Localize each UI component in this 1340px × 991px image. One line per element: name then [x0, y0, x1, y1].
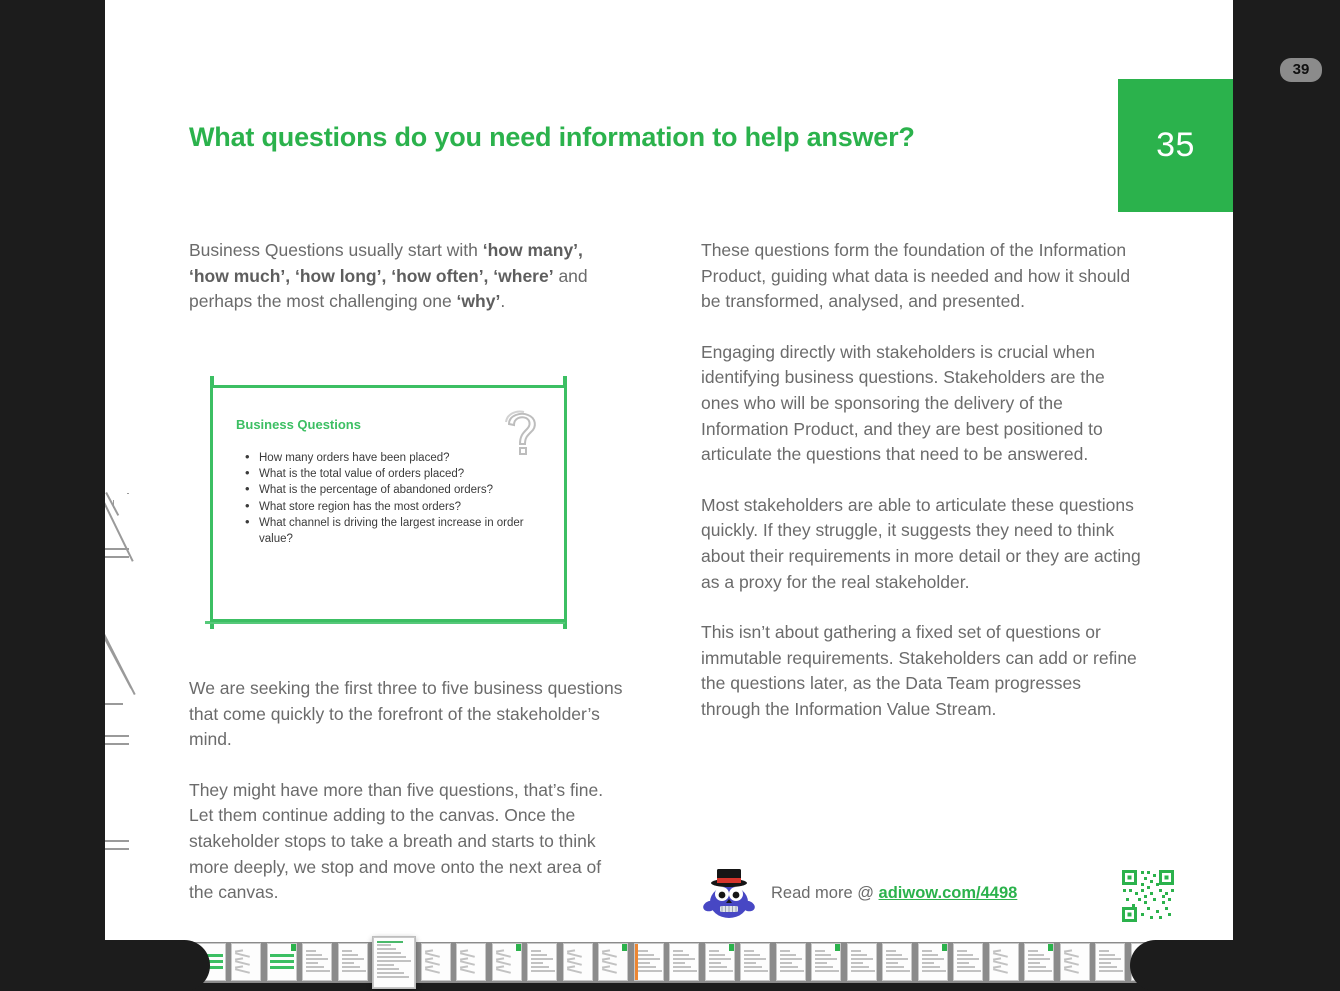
thumb-green-tag [942, 944, 947, 951]
thumb-line [851, 958, 873, 960]
thumb-line [638, 954, 654, 956]
presentation-viewer: 39 35 What questions do you need informa… [0, 0, 1340, 991]
thumb-line [886, 966, 904, 968]
thumbnail-31[interactable] [1095, 943, 1125, 981]
lp1-bold-b: ‘why’ [457, 291, 501, 311]
filmstrip-left-cap [0, 940, 210, 991]
thumbnail-25[interactable] [882, 943, 912, 981]
thumbnail-15[interactable] [527, 943, 557, 981]
thumb-line [744, 970, 768, 972]
thumbnail-21[interactable] [740, 943, 770, 981]
thumb-line [886, 970, 910, 972]
left-paragraph-3: They might have more than five questions… [189, 778, 624, 906]
thumb-line [306, 958, 328, 960]
thumb-line [922, 966, 940, 968]
thumb-line [306, 970, 330, 972]
filmstrip-right-cap [1130, 940, 1340, 991]
thumb-green-tag [729, 944, 734, 951]
list-item: How many orders have been placed? [243, 450, 543, 466]
page-indicator-badge: 39 [1280, 58, 1322, 82]
slide-number-badge: 35 [1118, 79, 1233, 212]
thumbnail-16[interactable] [563, 943, 593, 981]
page-title: What questions do you need information t… [189, 122, 915, 153]
thumb-line [815, 958, 837, 960]
thumb-line [780, 950, 790, 952]
thumb-line [886, 950, 896, 952]
thumbnail-9[interactable] [302, 943, 332, 981]
thumb-line [531, 954, 547, 956]
thumbnail-19[interactable] [669, 943, 699, 981]
left-column: Business Questions usually start with ‘h… [189, 238, 624, 315]
adiwow-link[interactable]: adiwow.com/4498 [879, 884, 1018, 902]
thumb-line [377, 968, 399, 970]
slide-number: 35 [1156, 126, 1195, 165]
thumb-line [377, 972, 404, 974]
thumb-line [306, 962, 318, 964]
thumb-line [377, 952, 401, 954]
thumb-line [602, 968, 617, 973]
thumbnail-12[interactable] [421, 943, 451, 981]
thumb-green-tag [835, 944, 840, 951]
thumb-title-line [377, 941, 403, 943]
thumb-band [270, 960, 294, 963]
slide-thumbnail-strip[interactable] [0, 940, 1340, 991]
thumb-line [744, 962, 756, 964]
owl-top-hat-icon [701, 866, 757, 922]
thumb-line [673, 962, 685, 964]
thumb-line [851, 950, 861, 952]
thumb-line [709, 958, 731, 960]
slide-footer: Read more @ adiwow.com/4498 [701, 866, 1143, 936]
left-column-lower: We are seeking the first three to five b… [189, 676, 624, 906]
list-item: What store region has the most orders? [243, 499, 543, 515]
thumbnail-13[interactable] [456, 943, 486, 981]
thumb-line [1099, 970, 1123, 972]
thumb-line [638, 966, 656, 968]
thumbnail-20[interactable] [705, 943, 735, 981]
figure-heading: Business Questions [236, 417, 361, 432]
right-column: These questions form the foundation of t… [701, 238, 1143, 723]
thumb-line [377, 944, 391, 946]
thumb-line [957, 958, 979, 960]
thumb-line [377, 948, 396, 950]
thumb-line [851, 962, 863, 964]
thumb-line [1028, 970, 1052, 972]
thumb-line [1099, 966, 1117, 968]
thumb-line [377, 976, 409, 978]
thumb-line [922, 958, 944, 960]
lp1a: Business Questions usually start with [189, 240, 483, 260]
right-paragraph-4: This isn’t about gathering a fixed set o… [701, 620, 1143, 722]
thumb-line [709, 954, 725, 956]
business-questions-figure: Business Questions How many orders have … [205, 376, 575, 636]
thumb-line [851, 966, 869, 968]
thumbnail-14[interactable] [492, 943, 522, 981]
thumb-line [1028, 954, 1044, 956]
thumb-line [709, 966, 727, 968]
thumb-line [851, 970, 875, 972]
thumb-line [744, 950, 754, 952]
figure-question-list: How many orders have been placed? What i… [243, 450, 543, 547]
thumb-line [780, 958, 802, 960]
thumb-line [709, 950, 719, 952]
thumb-line [1028, 962, 1040, 964]
thumb-line [306, 966, 324, 968]
thumbnail-10[interactable] [338, 943, 368, 981]
thumb-line [673, 958, 695, 960]
thumbnail-24[interactable] [847, 943, 877, 981]
thumb-green-tag [622, 944, 627, 951]
thumb-line [922, 970, 946, 972]
thumb-line [957, 962, 969, 964]
thumb-line [922, 962, 934, 964]
thumbnail-27[interactable] [953, 943, 983, 981]
thumb-line [709, 970, 733, 972]
thumbnail-22[interactable] [776, 943, 806, 981]
read-more-label: Read more @ [771, 884, 879, 902]
thumb-line [1028, 958, 1050, 960]
thumb-line [922, 950, 932, 952]
thumb-line [922, 954, 938, 956]
thumbnail-23[interactable] [811, 943, 841, 981]
thumb-green-tag [516, 944, 521, 951]
right-paragraph-1: These questions form the foundation of t… [701, 238, 1143, 315]
thumb-line [886, 962, 898, 964]
thumb-line [780, 970, 804, 972]
right-paragraph-3: Most stakeholders are able to articulate… [701, 493, 1143, 595]
thumb-line [342, 970, 366, 972]
thumbnail-30[interactable] [1060, 943, 1090, 981]
thumb-line [342, 950, 352, 952]
thumb-line [1064, 968, 1079, 973]
thumb-line [638, 962, 650, 964]
list-item: What channel is driving the largest incr… [243, 515, 543, 547]
thumb-line [496, 968, 511, 973]
thumb-line [567, 968, 582, 973]
thumbnail-7[interactable] [231, 943, 261, 981]
thumb-line [673, 966, 691, 968]
thumb-line [638, 958, 660, 960]
thumb-band [270, 966, 294, 969]
thumb-line [638, 950, 648, 952]
thumbnail-28[interactable] [989, 943, 1019, 981]
thumb-line [235, 968, 250, 973]
adjacent-slide-bleed-marks [105, 0, 135, 944]
thumb-line [342, 954, 358, 956]
thumb-line [709, 962, 721, 964]
thumb-line [342, 962, 354, 964]
thumb-line [531, 958, 553, 960]
thumb-line [886, 958, 908, 960]
thumb-line [531, 962, 543, 964]
thumb-line [815, 962, 827, 964]
thumb-line [744, 958, 766, 960]
thumb-line [780, 954, 796, 956]
thumb-line [815, 970, 839, 972]
thumb-line [342, 966, 360, 968]
thumb-line [1099, 962, 1111, 964]
thumb-line [1099, 958, 1121, 960]
thumbnail-11[interactable] [373, 937, 415, 988]
list-item: What is the percentage of abandoned orde… [243, 482, 543, 498]
lp1c: . [500, 291, 505, 311]
thumb-line [531, 970, 555, 972]
thumb-line [1099, 950, 1109, 952]
thumbnail-17[interactable] [598, 943, 628, 981]
thumb-line [1099, 954, 1115, 956]
thumb-line [377, 960, 411, 962]
thumbnail-18[interactable] [634, 943, 664, 981]
thumb-line [815, 950, 825, 952]
thumb-line [851, 954, 867, 956]
thumb-line [1028, 950, 1038, 952]
thumb-line [957, 950, 967, 952]
thumb-green-tag [1048, 944, 1053, 951]
thumb-green-tag [291, 944, 296, 951]
thumb-line [673, 950, 683, 952]
thumb-line [744, 966, 762, 968]
thumbnail-29[interactable] [1024, 943, 1054, 981]
thumb-line [306, 950, 316, 952]
thumb-line [957, 966, 975, 968]
thumb-line [886, 954, 902, 956]
thumb-line [673, 970, 697, 972]
thumb-line [638, 970, 662, 972]
thumb-line [531, 966, 549, 968]
left-paragraph-2: We are seeking the first three to five b… [189, 676, 624, 753]
thumb-line [815, 954, 831, 956]
thumb-line [957, 954, 973, 956]
thumb-line [780, 966, 798, 968]
thumb-line [342, 958, 364, 960]
thumb-line [425, 968, 440, 973]
thumb-line [815, 966, 833, 968]
thumbnail-8[interactable] [267, 943, 297, 981]
thumb-band [270, 954, 294, 957]
qr-code-icon[interactable] [1120, 868, 1176, 924]
figure-frame: Business Questions How many orders have … [210, 385, 567, 622]
thumb-line [531, 950, 541, 952]
thumb-line [744, 954, 760, 956]
thumb-line [780, 962, 792, 964]
thumbnail-26[interactable] [918, 943, 948, 981]
slide-page[interactable]: 35 What questions do you need informatio… [105, 0, 1233, 944]
read-more-text: Read more @ adiwow.com/4498 [771, 884, 1017, 903]
thumb-line [306, 954, 322, 956]
thumb-line [460, 968, 475, 973]
thumb-line [377, 964, 394, 966]
thumb-line [993, 968, 1008, 973]
thumb-line [377, 956, 406, 958]
right-paragraph-2: Engaging directly with stakeholders is c… [701, 340, 1143, 468]
list-item: What is the total value of orders placed… [243, 466, 543, 482]
thumb-line [1028, 966, 1046, 968]
thumb-line [957, 970, 981, 972]
left-paragraph-1: Business Questions usually start with ‘h… [189, 238, 624, 315]
thumb-line [673, 954, 689, 956]
